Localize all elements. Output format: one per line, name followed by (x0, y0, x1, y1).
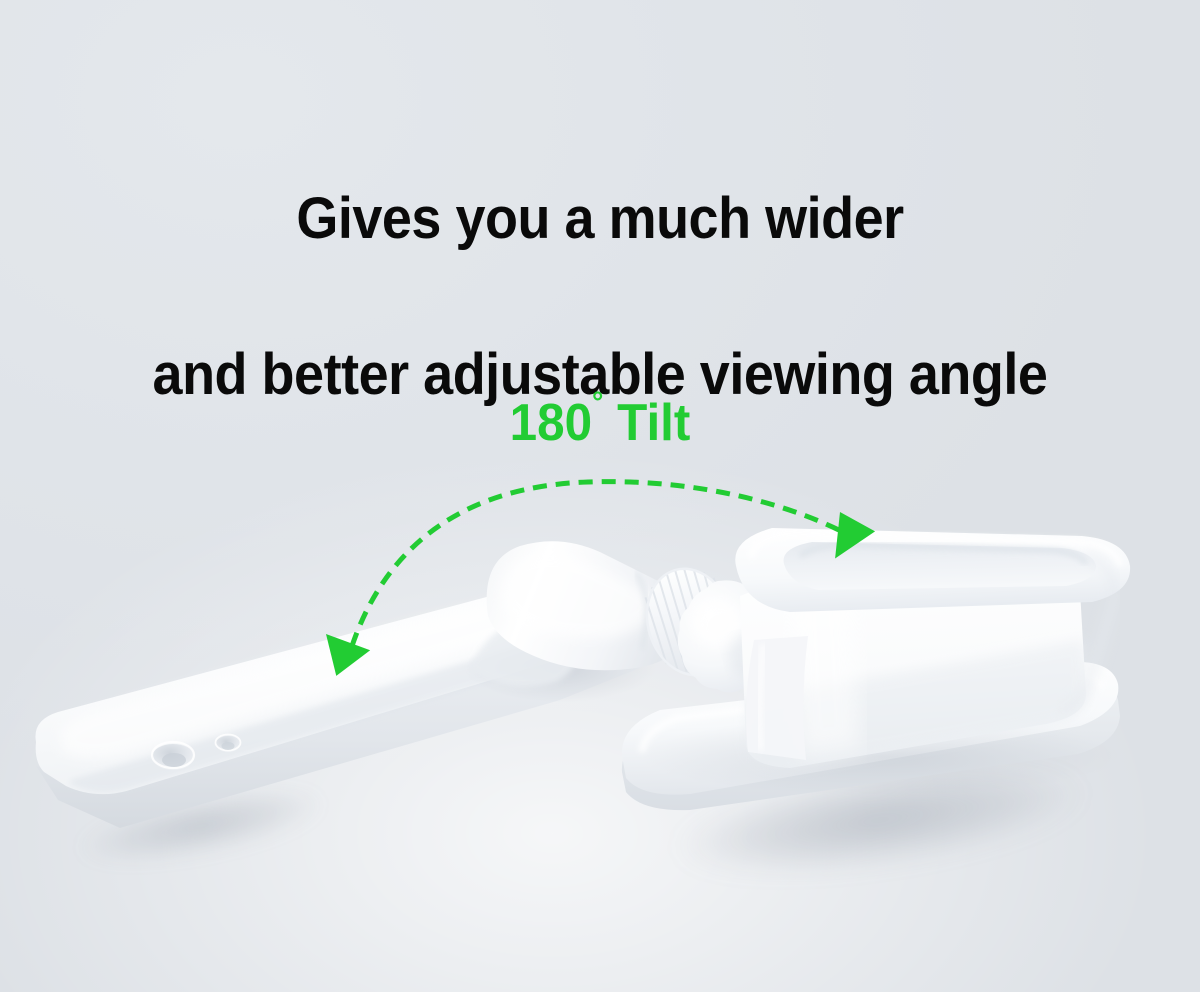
tilt-arc-annotation (0, 0, 1200, 992)
product-feature-image: Gives you a much wider and better adjust… (0, 0, 1200, 992)
tilt-arc-path (352, 482, 858, 646)
arrow-left-icon (320, 634, 371, 680)
arrow-right-icon (821, 512, 876, 569)
